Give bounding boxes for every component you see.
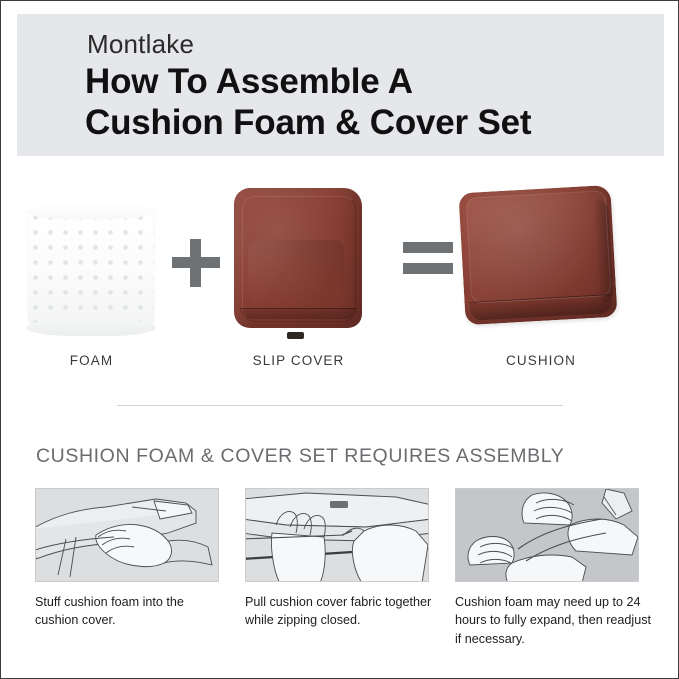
assembled-cushion-icon (456, 181, 626, 341)
equation-label-cushion: CUSHION (453, 353, 629, 368)
assembly-step-1-caption: Stuff cushion foam into the cushion cove… (35, 593, 225, 630)
equals-icon (401, 240, 457, 286)
brand-name: Montlake (87, 31, 194, 57)
assembly-step-1-illustration (35, 488, 219, 582)
assembly-step-3-illustration (455, 488, 639, 582)
brand-tag-icon (287, 332, 304, 339)
foam-block-icon (25, 196, 158, 336)
page-title-line-2: Cushion Foam & Cover Set (85, 103, 665, 144)
slip-cover-icon (234, 188, 362, 340)
assembly-step-2-caption: Pull cushion cover fabric together while… (245, 593, 441, 630)
page-title: How To Assemble A Cushion Foam & Cover S… (85, 62, 665, 144)
assembly-step-3-caption: Cushion foam may need up to 24 hours to … (455, 593, 655, 648)
equation-label-foam: FOAM (25, 353, 158, 368)
assembly-step-panels (1, 488, 679, 588)
assembly-section-heading: CUSHION FOAM & COVER SET REQUIRES ASSEMB… (36, 445, 564, 468)
equation-label-slip-cover: SLIP COVER (217, 353, 380, 368)
assembly-step-2-illustration (245, 488, 429, 582)
plus-icon (169, 236, 223, 290)
infographic-page: Montlake How To Assemble A Cushion Foam … (0, 0, 679, 679)
section-divider (117, 405, 563, 406)
assembly-equation (1, 176, 679, 376)
page-title-line-1: How To Assemble A (85, 62, 665, 103)
header-band: Montlake How To Assemble A Cushion Foam … (17, 14, 664, 156)
